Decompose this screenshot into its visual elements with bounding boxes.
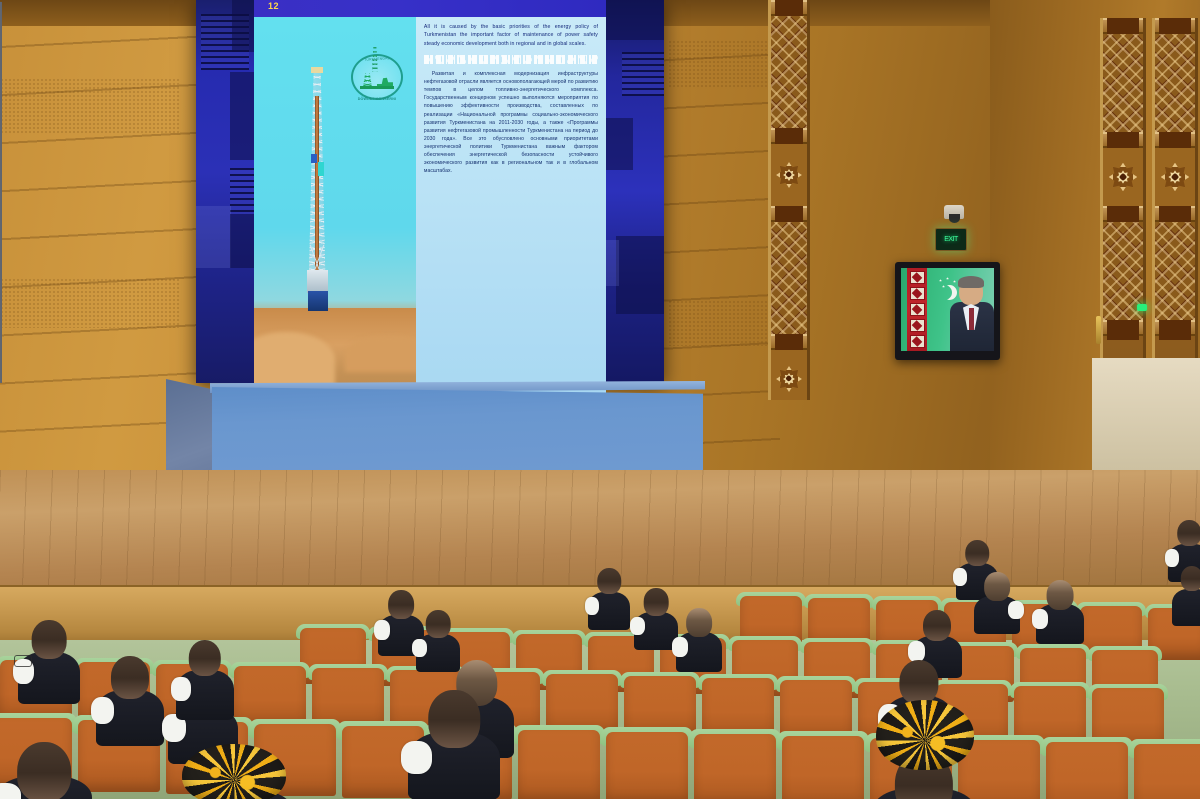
seat[interactable]	[1046, 742, 1128, 799]
seat[interactable]	[782, 736, 864, 799]
attendee	[1036, 580, 1084, 644]
led-presentation-screen[interactable]: 12	[196, 0, 664, 383]
oil-gas-concern-logo-icon: TÜRKMENGAZ DÖWLET KONSERNI	[351, 48, 403, 100]
carpet-ornament-column-right-b	[1152, 18, 1198, 358]
turkmenistan-flag-carpet-band	[907, 268, 927, 351]
seat[interactable]	[694, 734, 776, 799]
gul-motif	[910, 303, 925, 316]
rig-base-machinery	[308, 291, 327, 311]
logo-scene	[360, 71, 394, 88]
acoustic-perforation-band	[0, 278, 180, 328]
attendee	[96, 656, 164, 746]
portrait-hair	[958, 276, 984, 288]
exit-sign: EXIT	[935, 228, 967, 251]
wall-tv-monitor[interactable]	[895, 262, 1000, 360]
portrait-tie	[969, 308, 974, 330]
screen-right-decor-panel	[606, 0, 664, 383]
gul-motif	[910, 335, 925, 348]
attendee	[974, 572, 1020, 634]
slide-ornament-divider	[424, 55, 598, 64]
logo-ground-line	[360, 86, 394, 89]
slide-text-column: All it is caused by the basic priorities…	[416, 17, 606, 400]
rig-teal-module	[318, 162, 324, 176]
slide-english-paragraph: All it is caused by the basic priorities…	[424, 23, 598, 48]
right-wall-lower-panel	[1092, 358, 1200, 478]
derrick-crown-block	[311, 67, 323, 73]
drilling-rig	[304, 71, 330, 324]
traditional-headscarf	[876, 700, 974, 770]
slide-header-bar	[254, 0, 606, 17]
traditional-headscarf	[182, 744, 286, 799]
attendee	[1172, 566, 1200, 626]
door-status-led	[1137, 304, 1147, 311]
gul-motif	[910, 319, 925, 332]
rig-blue-module	[311, 154, 317, 163]
tv-screen-content	[901, 268, 994, 351]
slide-photo-drilling-rig: TÜRKMENGAZ DÖWLET KONSERNI	[254, 17, 416, 400]
conference-hall-scene: 12	[0, 0, 1200, 799]
seat[interactable]	[518, 730, 600, 799]
attendee	[18, 620, 80, 704]
official-portrait	[950, 278, 994, 351]
slide-number: 12	[268, 1, 279, 11]
acoustic-perforation-band	[668, 300, 780, 346]
logo-bottom-text: DÖWLET KONSERNI	[351, 97, 403, 101]
gul-motif	[910, 271, 925, 284]
attendee	[588, 568, 630, 630]
seat[interactable]	[606, 732, 688, 799]
seat[interactable]	[1134, 744, 1200, 799]
attendee	[676, 608, 722, 672]
security-camera-icon	[944, 205, 964, 219]
screen-left-decor-panel	[196, 0, 254, 383]
acoustic-perforation-band	[0, 78, 180, 134]
attendee	[408, 690, 500, 799]
acoustic-perforation-band	[668, 40, 780, 88]
slide-content: 12	[254, 0, 606, 383]
door-handle[interactable]	[1096, 316, 1101, 344]
screen-left-bezel	[0, 0, 2, 383]
carpet-ornament-column-left	[768, 0, 810, 400]
attendee	[176, 640, 234, 720]
attendee	[0, 742, 92, 799]
gul-motif	[910, 287, 925, 300]
slide-russian-paragraph: Развитая и комплексная модернизация инфр…	[424, 70, 598, 175]
exit-sign-label: EXIT	[944, 236, 958, 243]
attendee	[634, 588, 678, 650]
